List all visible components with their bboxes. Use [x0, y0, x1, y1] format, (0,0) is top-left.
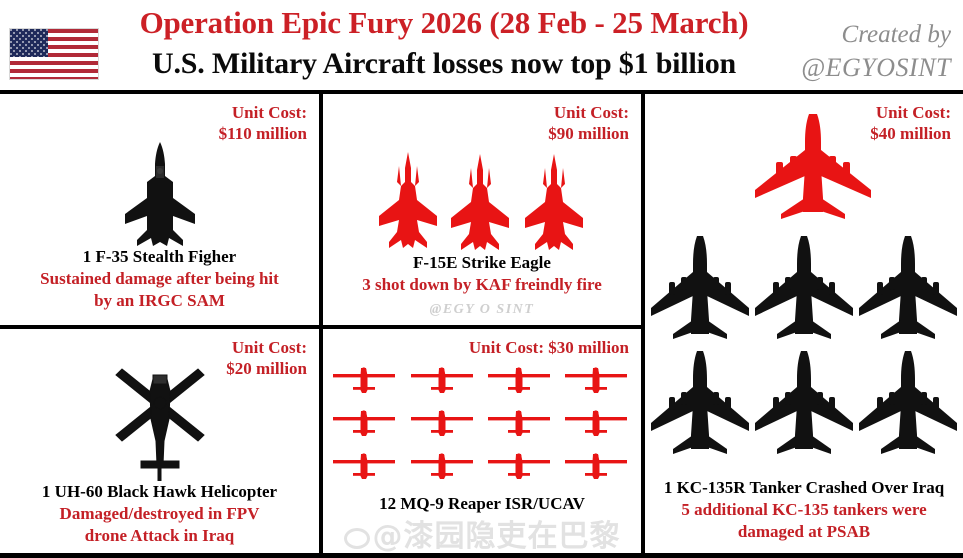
- weibo-handle-text: @漆园隐吏在巴黎: [373, 519, 621, 554]
- unit-cost-label: Unit Cost:: [232, 338, 307, 357]
- divider-horizontal: [0, 325, 641, 329]
- panel-uh60: Unit Cost: $20 million: [0, 329, 319, 558]
- caption-main: 1 UH-60 Black Hawk Helicopter: [0, 481, 319, 503]
- unit-cost-uh60: Unit Cost: $20 million: [226, 337, 307, 379]
- credit-handle: @EGYOSINT: [763, 51, 951, 84]
- title-line-losses: U.S. Military Aircraft losses now top $1…: [108, 44, 780, 84]
- caption-sub-2: drone Attack in Iraq: [0, 525, 319, 547]
- unit-cost-value: $20 million: [226, 359, 307, 378]
- flag-canton: [10, 29, 48, 57]
- page-title: Operation Epic Fury 2026 (28 Feb - 25 Ma…: [108, 2, 780, 92]
- unit-cost-label: Unit Cost:: [554, 103, 629, 122]
- panel-grid: Unit Cost: $110 million 1 F-35 Stealth F…: [0, 94, 963, 558]
- caption-f15: F-15E Strike Eagle 3 shot down by KAF fr…: [323, 252, 641, 296]
- caption-main: 1 F-35 Stealth Figher: [0, 246, 319, 268]
- unit-cost-f35: Unit Cost: $110 million: [219, 102, 307, 144]
- panel-f35: Unit Cost: $110 million 1 F-35 Stealth F…: [0, 94, 319, 325]
- credit-created-by: Created by: [763, 18, 951, 51]
- kc135-tanker-icon-row1: [651, 234, 957, 351]
- caption-sub-1: 5 additional KC-135 tankers were: [645, 499, 963, 521]
- us-flag-icon: [9, 28, 99, 80]
- unit-cost-f15: Unit Cost: $90 million: [548, 102, 629, 144]
- caption-sub-1: Damaged/destroyed in FPV: [0, 503, 319, 525]
- caption-sub-1: Sustained damage after being hit: [0, 268, 319, 290]
- caption-f35: 1 F-35 Stealth Figher Sustained damage a…: [0, 246, 319, 312]
- credit-block: Created by @EGYOSINT: [763, 18, 951, 84]
- watermark-weibo: @漆园隐吏在巴黎: [323, 520, 641, 554]
- weibo-logo-icon: [344, 528, 370, 549]
- unit-cost-label: Unit Cost:: [232, 103, 307, 122]
- bottom-rule: [0, 553, 963, 558]
- panel-f15: Unit Cost: $90 million: [323, 94, 641, 325]
- unit-cost-mq9: Unit Cost: $30 million: [399, 337, 629, 358]
- unit-cost-label: Unit Cost: $30 million: [469, 338, 629, 357]
- caption-kc135: 1 KC-135R Tanker Crashed Over Iraq 5 add…: [645, 477, 963, 543]
- kc135-tanker-icon-lost: [753, 112, 873, 227]
- unit-cost-kc135: Unit Cost: $40 million: [870, 102, 951, 144]
- header-banner: Operation Epic Fury 2026 (28 Feb - 25 Ma…: [0, 0, 963, 94]
- caption-main: 12 MQ-9 Reaper ISR/UCAV: [323, 493, 641, 515]
- caption-sub-2: by an IRGC SAM: [0, 290, 319, 312]
- kc135-tanker-icon-row2: [651, 349, 957, 466]
- divider-vertical-right: [641, 94, 645, 558]
- unit-cost-value: $40 million: [870, 124, 951, 143]
- panel-kc135: Unit Cost: $40 million: [645, 94, 963, 558]
- caption-main: 1 KC-135R Tanker Crashed Over Iraq: [645, 477, 963, 499]
- unit-cost-value: $90 million: [548, 124, 629, 143]
- uh60-helicopter-icon: [103, 361, 217, 486]
- caption-sub-2: damaged at PSAB: [645, 521, 963, 543]
- caption-uh60: 1 UH-60 Black Hawk Helicopter Damaged/de…: [0, 481, 319, 547]
- caption-main: F-15E Strike Eagle: [323, 252, 641, 274]
- unit-cost-value: $110 million: [219, 124, 307, 143]
- caption-sub-1: 3 shot down by KAF freindly fire: [323, 274, 641, 296]
- caption-mq9: 12 MQ-9 Reaper ISR/UCAV: [323, 493, 641, 515]
- f15-fighter-icon-group: [377, 152, 589, 257]
- unit-cost-label: Unit Cost:: [876, 103, 951, 122]
- mq9-drone-icon-group: [333, 363, 633, 494]
- infographic-root: Operation Epic Fury 2026 (28 Feb - 25 Ma…: [0, 0, 963, 558]
- watermark-egyosint: @EGY O SINT: [323, 302, 641, 318]
- title-line-operation: Operation Epic Fury 2026 (28 Feb - 25 Ma…: [108, 2, 780, 44]
- f35-fighter-icon: [117, 142, 203, 251]
